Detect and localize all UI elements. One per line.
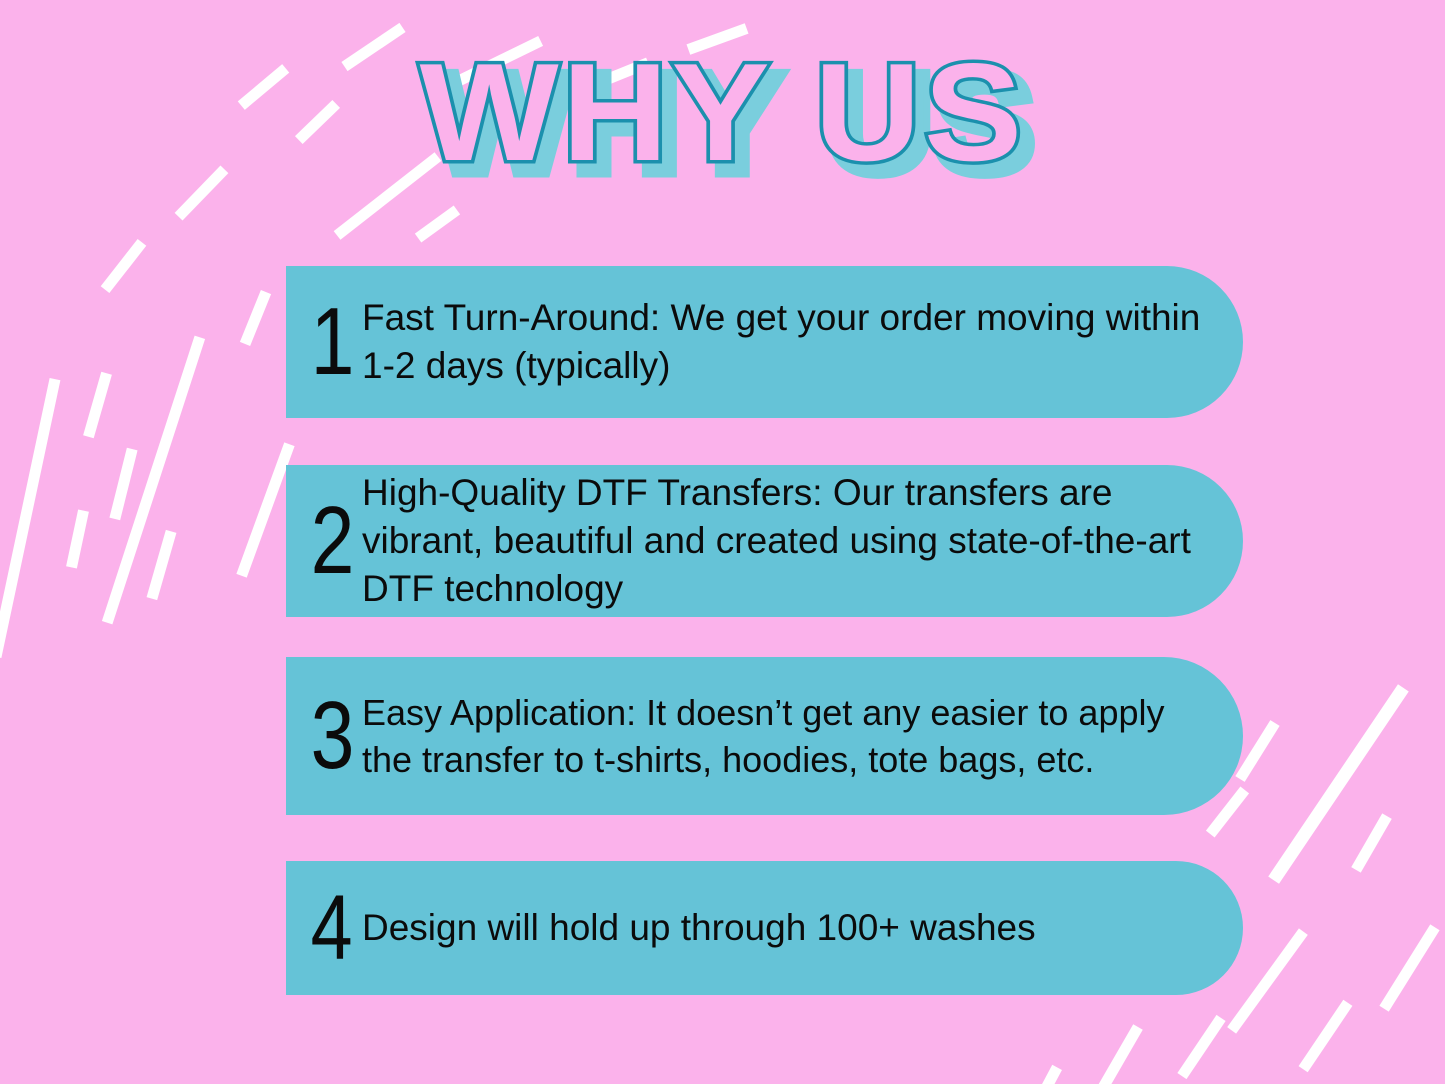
stripe-dash [240, 290, 271, 346]
benefit-number-2: 2 [286, 493, 348, 589]
stripe-dash [1351, 813, 1392, 872]
stripe-dash [1299, 1000, 1353, 1072]
benefit-text-3: Easy Application: It doesn’t get any eas… [362, 689, 1243, 783]
stripe-dash [1025, 1065, 1062, 1084]
benefit-card-4[interactable]: 4 Design will hold up through 100+ washe… [286, 861, 1243, 995]
stripe-dash [66, 509, 89, 568]
stripe-dash [83, 372, 112, 438]
stripe-dash [1177, 1015, 1225, 1079]
benefit-card-3[interactable]: 3 Easy Application: It doesn’t get any e… [286, 657, 1243, 815]
benefit-text-2: High-Quality DTF Transfers: Our transfer… [362, 469, 1243, 613]
benefit-card-2[interactable]: 2 High-Quality DTF Transfers: Our transf… [286, 465, 1243, 617]
stripe-dash [147, 530, 177, 600]
poster-canvas: WHY US WHY US 1 Fast Turn-Around: We get… [0, 0, 1445, 1084]
stripe-dash [101, 239, 147, 293]
stripe-dash [0, 378, 60, 658]
benefit-number-1: 1 [286, 294, 348, 390]
stripe-dash [415, 205, 460, 242]
benefit-text-1: Fast Turn-Around: We get your order movi… [362, 294, 1243, 390]
benefit-text-4: Design will hold up through 100+ washes [362, 904, 1243, 952]
title-outline-layer: WHY US [0, 38, 1445, 188]
benefit-number-3: 3 [286, 688, 348, 784]
stripe-dash [109, 448, 137, 521]
stripe-dash [1379, 924, 1439, 1011]
page-title: WHY US WHY US [0, 38, 1445, 188]
stripe-dash [102, 336, 205, 625]
benefit-number-4: 4 [286, 882, 348, 974]
stripe-dash [1268, 684, 1409, 884]
stripe-dash [1096, 1024, 1143, 1084]
benefit-card-1[interactable]: 1 Fast Turn-Around: We get your order mo… [286, 266, 1243, 418]
